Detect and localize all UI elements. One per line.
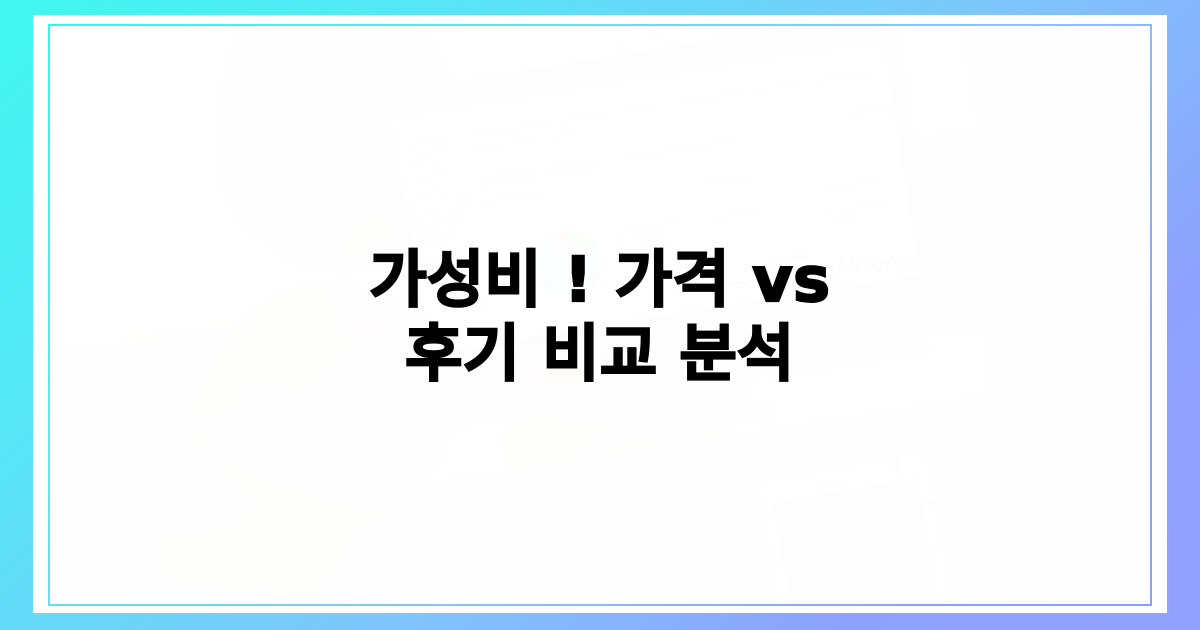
section-heading-line [483,191,547,204]
legend-label [626,242,672,252]
sidebar-item [422,250,466,260]
filter-pill [548,159,595,176]
legend-label [720,210,758,219]
sidebar-item [409,171,453,181]
legend-swatch [617,240,622,245]
line-chart [669,243,813,300]
line-chart [850,86,920,124]
text-line [557,112,609,123]
text-line [676,91,742,104]
legend-swatch [620,260,625,265]
key [708,340,736,356]
key [753,316,781,332]
filter-pill [479,169,536,188]
background-photo [33,15,1167,613]
text-line [512,138,538,145]
key [797,326,825,342]
glasses-lens [986,397,1104,511]
window-close-icon [398,110,401,113]
sidebar-item [407,159,441,167]
sidebar-item [411,184,441,192]
text-line [547,132,577,140]
legend-swatch [615,230,620,235]
key [762,363,790,379]
sidebar-item [420,241,450,249]
key [733,368,761,384]
legend-swatch [710,217,715,222]
key [738,335,766,351]
card-title-line [705,175,751,185]
key [456,363,484,379]
sidebar-item [418,230,456,239]
phone-speaker [817,478,851,487]
text-line [474,143,504,151]
text-line [814,71,872,83]
key [694,326,722,342]
text-line [755,82,803,92]
sidebar-item [406,148,450,158]
key [812,307,840,323]
glasses-bridge [964,426,990,432]
legend-label [623,221,679,233]
sidebar-item [404,138,448,148]
key [723,321,751,337]
legend-swatch [827,211,832,216]
thumbnail-canvas: 가성비 ! 가격 vs 후기 비교 분석 [0,0,1200,630]
key [481,392,509,408]
legend-label [828,217,858,225]
key [767,330,795,346]
legend-swatch [618,250,623,255]
key [486,359,514,375]
key [718,354,746,370]
window-minimize-icon [404,109,407,112]
key [883,341,934,361]
inner-plate [33,15,1167,613]
pie-chart [531,226,607,302]
key [471,377,499,393]
key [782,312,810,328]
card-title-line [823,178,885,191]
text-line [616,104,660,114]
key [778,345,806,361]
key [792,349,881,375]
legend-label [837,201,891,212]
window-maximize-icon [410,109,413,112]
legend-label [625,233,665,242]
legend-label [628,254,662,262]
sidebar-item [424,264,458,272]
text-line [472,122,550,137]
sidebar-highlight-box [412,192,464,218]
sidebar-item [426,274,470,284]
glasses-temple [835,429,887,466]
sidebar-item [417,219,461,229]
text-line [624,139,733,159]
key [748,349,776,365]
key [842,302,870,318]
